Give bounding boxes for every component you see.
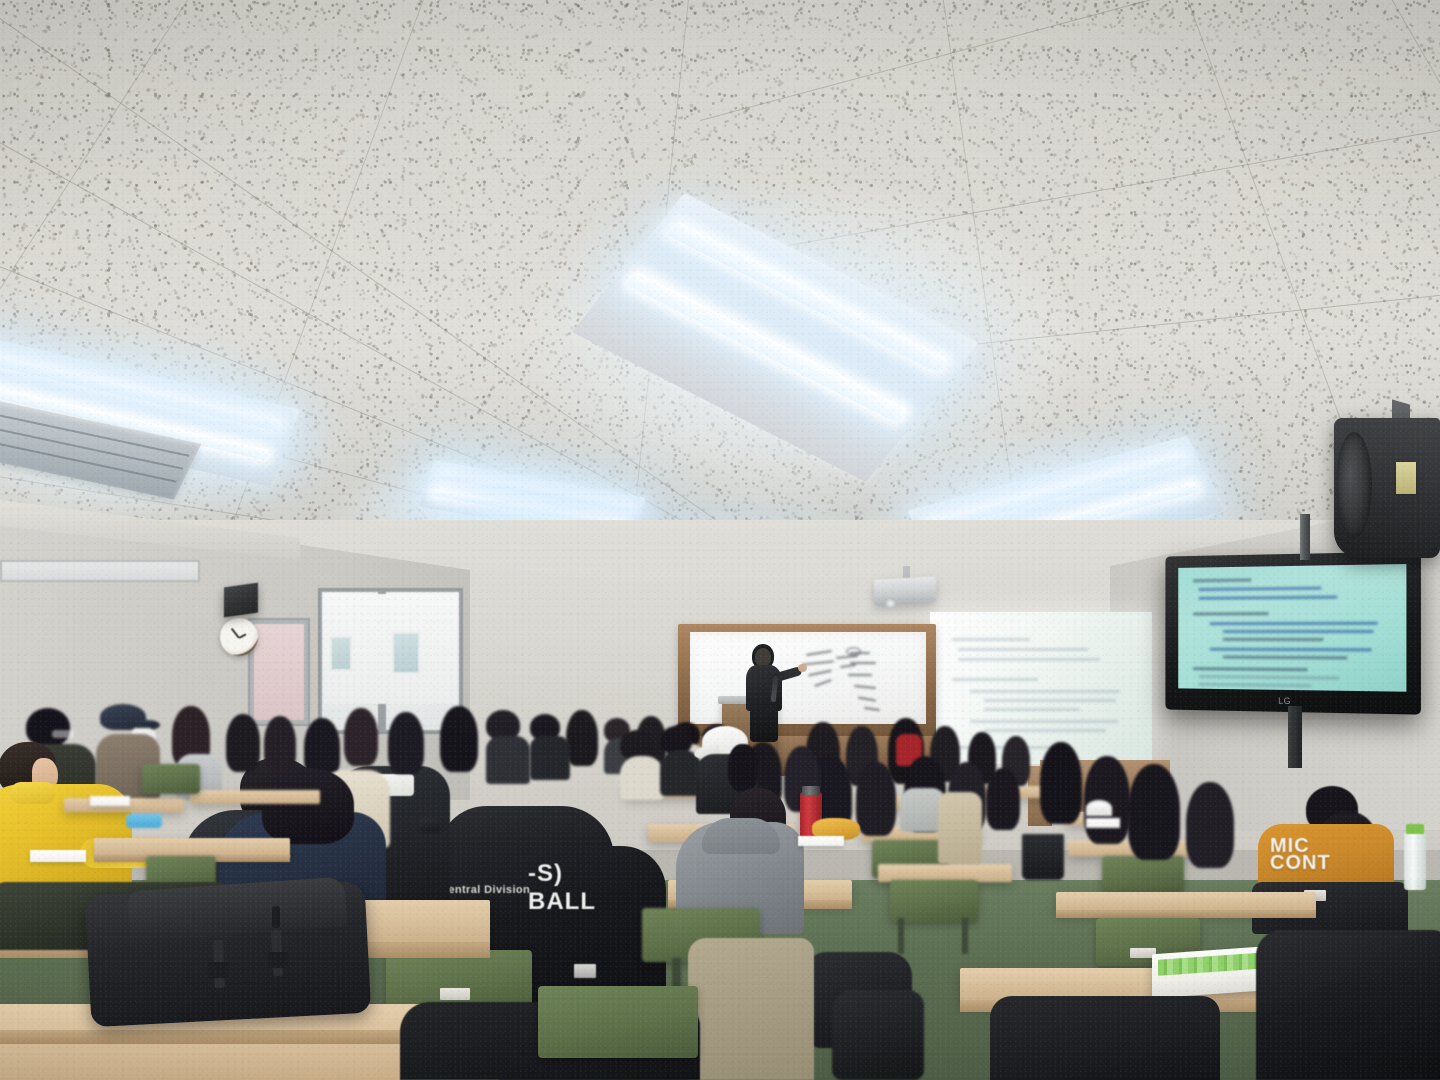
projector-lens [884,599,897,608]
backpack-buckle-1 [208,962,228,978]
mustard-sweatshirt-text: MICCONT [1270,838,1362,872]
wall-tv-monitor[interactable]: LG [1165,551,1421,714]
backpack-zipper-pull [272,906,280,928]
upper-left-window-band [0,560,200,582]
wall-clock [220,618,258,656]
lecturer-hand [798,664,807,672]
desk-papers-right-1 [1086,818,1120,828]
ceiling-speaker-left [224,583,258,618]
desk-left-back-2 [190,790,320,804]
tv-mount-pole [1300,514,1310,560]
tv-slide-content [1178,564,1406,692]
ball-jacket-tag [574,964,596,978]
chair-tag-left [440,988,470,1000]
white-headphones [1086,800,1112,816]
black-tote-bag [1022,834,1064,880]
tv-screen [1178,564,1406,692]
chair-mid-right-2 [890,880,978,922]
desk-papers-center [798,836,844,846]
lecture-hall-photo: LG [0,0,1440,1080]
desk-papers-left [90,796,130,806]
speaker-cone [1336,432,1372,538]
chair-leg-mid-2 [962,918,968,954]
chair-leg-mid-1 [898,918,904,954]
draped-black-coat-right-2 [990,996,1220,1080]
grey-hoodie-hood [702,818,780,854]
projected-slide-content [930,612,1152,764]
floor-bag-right [832,990,924,1080]
tv-brand-logo: LG [1278,696,1291,706]
smartphone [418,818,440,832]
chair-bottom-center [538,986,698,1058]
speaker-label [1396,462,1416,494]
blue-pencil-case [126,814,162,828]
yellow-turtleneck-collar [10,782,56,804]
desk-right-front-edge [1056,910,1316,918]
tv-wall-mount [1288,706,1302,768]
red-thermos-cap [802,786,820,795]
student-navy-shirt-head [262,768,354,844]
window-blind-inner [254,624,304,720]
ball-jacket-text-sub: Central Division [440,884,570,898]
water-bottle [1404,832,1426,890]
chair-right-row-3 [1102,856,1184,892]
exterior-building-window-2 [392,632,420,674]
desk-papers-left-2 [30,850,86,862]
chair-left-1 [142,764,200,794]
projection-screen [930,612,1152,764]
backpack-buckle-2 [268,952,288,968]
exterior-building-window-1 [330,636,352,671]
white-cap-student-hair [728,744,758,792]
draped-black-coat-right [1256,930,1440,1080]
water-bottle-cap [1406,824,1424,834]
student-khaki-trousers [688,938,814,1080]
